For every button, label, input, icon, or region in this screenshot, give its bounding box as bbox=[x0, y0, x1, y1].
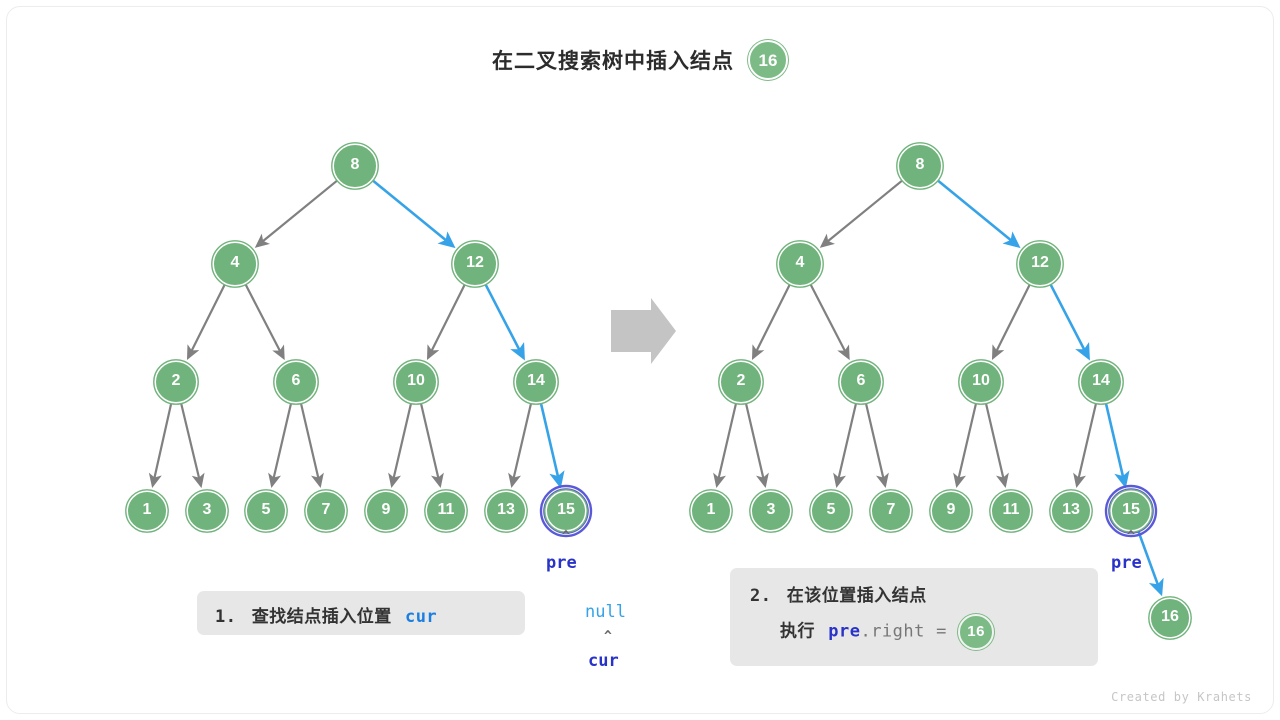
tree-node-circle[interactable] bbox=[840, 361, 882, 403]
tree-node-circle[interactable] bbox=[155, 361, 197, 403]
tree-edge bbox=[392, 403, 411, 485]
caption-2-exec-label: 执行 bbox=[780, 621, 815, 640]
tree-node-circle[interactable] bbox=[275, 361, 317, 403]
tree-edge bbox=[188, 285, 225, 358]
tree-node-circle[interactable] bbox=[246, 491, 286, 531]
tree-node-circle[interactable] bbox=[691, 491, 731, 531]
tree-edge bbox=[153, 403, 171, 485]
caption-1-number: 1. bbox=[215, 607, 236, 627]
null-label-left: null bbox=[585, 602, 626, 622]
tree-node-circle[interactable] bbox=[1080, 361, 1122, 403]
tree-edge bbox=[822, 181, 902, 247]
pre-label-right: pre bbox=[1111, 553, 1142, 573]
tree-edge bbox=[181, 403, 201, 485]
tree-node-circle[interactable] bbox=[187, 491, 227, 531]
tree-node-circle[interactable] bbox=[395, 361, 437, 403]
tree-edge bbox=[246, 284, 284, 358]
caption-step-2: 2. 在该位置插入结点 执行 pre.right = 16 bbox=[730, 568, 1098, 666]
tree-nodes bbox=[126, 143, 1191, 639]
tree-node-circle[interactable] bbox=[871, 491, 911, 531]
cur-label-left: cur bbox=[588, 651, 619, 671]
tree-edge bbox=[272, 403, 291, 485]
caption-2-pre: pre bbox=[828, 621, 860, 641]
tree-edge bbox=[257, 181, 337, 247]
caption-2-equals: = bbox=[936, 621, 947, 641]
tree-node-circle[interactable] bbox=[333, 144, 377, 188]
tree-node-circle[interactable] bbox=[546, 491, 586, 531]
tree-edge bbox=[957, 403, 976, 485]
cur-caret-icon: ^ bbox=[604, 629, 612, 644]
diagram-page: 在二叉搜索树中插入结点16 84122610141357911131584122… bbox=[0, 0, 1280, 720]
tree-edge bbox=[1106, 403, 1125, 485]
tree-edge bbox=[541, 403, 560, 485]
caption-2-badge: 16 bbox=[958, 614, 994, 650]
tree-node-circle[interactable] bbox=[453, 242, 497, 286]
tree-node-circle[interactable] bbox=[1051, 491, 1091, 531]
tree-edge bbox=[993, 285, 1030, 358]
tree-node-circle[interactable] bbox=[366, 491, 406, 531]
tree-edge bbox=[753, 285, 790, 358]
tree-node-circle[interactable] bbox=[778, 242, 822, 286]
caption-2-right-field: .right bbox=[860, 621, 924, 641]
caption-step-1: 1. 查找结点插入位置 cur bbox=[197, 591, 525, 635]
tree-edge bbox=[301, 403, 320, 485]
caption-2-number: 2. bbox=[750, 586, 771, 606]
tree-edge bbox=[717, 403, 736, 485]
pre-caret-right-icon: ^ bbox=[1127, 529, 1135, 544]
tree-edge bbox=[811, 284, 849, 358]
tree-edge bbox=[938, 181, 1018, 247]
tree-node-circle[interactable] bbox=[931, 491, 971, 531]
tree-node-circle[interactable] bbox=[306, 491, 346, 531]
tree-edge bbox=[1077, 403, 1096, 485]
tree-node-circle[interactable] bbox=[127, 491, 167, 531]
tree-edge bbox=[512, 403, 531, 485]
caption-1-pointer: cur bbox=[405, 607, 437, 627]
tree-node-circle[interactable] bbox=[898, 144, 942, 188]
tree-node-circle[interactable] bbox=[811, 491, 851, 531]
caption-2-line1: 在该位置插入结点 bbox=[787, 586, 927, 605]
caption-1-text: 查找结点插入位置 bbox=[252, 607, 392, 626]
tree-edge bbox=[986, 403, 1005, 485]
tree-node-circle[interactable] bbox=[213, 242, 257, 286]
tree-node-circle[interactable] bbox=[1018, 242, 1062, 286]
transition-block-arrow bbox=[611, 298, 676, 364]
tree-edge bbox=[746, 403, 765, 485]
tree-node-circle[interactable] bbox=[426, 491, 466, 531]
tree-edge bbox=[421, 403, 440, 485]
tree-node-circle[interactable] bbox=[486, 491, 526, 531]
tree-edge bbox=[373, 181, 453, 247]
tree-edge bbox=[1051, 284, 1089, 358]
tree-node-circle[interactable] bbox=[1111, 491, 1151, 531]
tree-node-circle[interactable] bbox=[991, 491, 1031, 531]
tree-node-circle[interactable] bbox=[1150, 598, 1190, 638]
tree-edge bbox=[866, 403, 885, 485]
tree-edge bbox=[428, 285, 465, 358]
footer-credit: Created by Krahets bbox=[1111, 690, 1252, 704]
pre-caret-left-icon: ^ bbox=[562, 529, 570, 544]
tree-node-circle[interactable] bbox=[960, 361, 1002, 403]
pre-label-left: pre bbox=[546, 553, 577, 573]
tree-node-circle[interactable] bbox=[751, 491, 791, 531]
tree-node-circle[interactable] bbox=[720, 361, 762, 403]
tree-edge bbox=[486, 284, 524, 358]
tree-node-circle[interactable] bbox=[515, 361, 557, 403]
tree-edge bbox=[837, 403, 856, 485]
